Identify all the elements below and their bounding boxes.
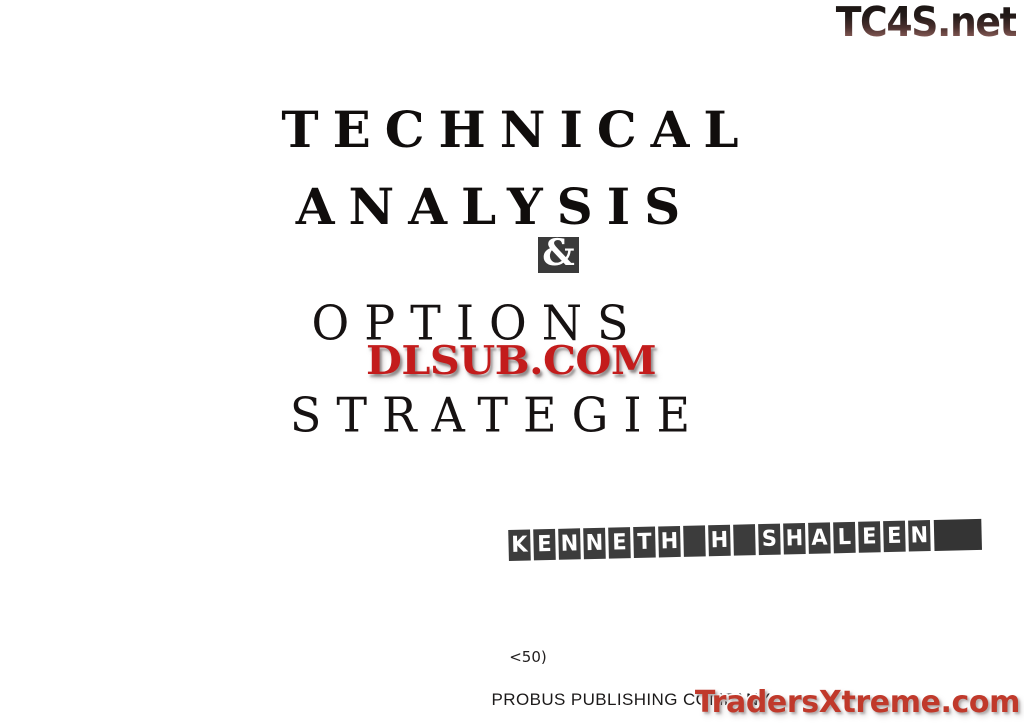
- author-tile-l: L: [833, 522, 856, 554]
- title-line-analysis: ANALYSIS: [0, 177, 1000, 236]
- author-tile-a: A: [808, 522, 831, 554]
- dlsub-watermark: DLSUB.COM: [366, 339, 656, 383]
- author-name-strip: KENNETHHSHALEEN: [508, 519, 984, 561]
- author-tile-e: E: [608, 527, 631, 559]
- author-tile-h: H: [708, 525, 731, 557]
- cover-title-block: TECHNICAL ANALYSIS & OPTIONS STRATEGIE: [0, 0, 1024, 470]
- author-tile-h: H: [783, 523, 806, 555]
- author-tile-blank: [934, 519, 982, 551]
- author-tile-n: N: [908, 520, 931, 552]
- author-tile-e: E: [533, 529, 556, 561]
- author-tile-e: E: [883, 521, 906, 553]
- ampersand-plate: &: [538, 237, 579, 273]
- author-tile-n: N: [558, 528, 581, 560]
- author-tile-space: [733, 524, 756, 556]
- title-line-technical: TECHNICAL: [0, 100, 1022, 159]
- author-tile-t: T: [633, 527, 656, 559]
- subtitle-line-strategie: STRATEGIE: [0, 387, 1002, 443]
- book-cover-scan: TC4S.net TECHNICAL ANALYSIS & OPTIONS ST…: [0, 0, 1024, 724]
- author-tile-e: E: [858, 521, 881, 553]
- author-tile-k: K: [508, 529, 531, 561]
- author-tile-space: [683, 525, 706, 557]
- author-tile-h: H: [658, 526, 681, 558]
- tradersxtreme-watermark: TradersXtreme.com: [695, 686, 1020, 720]
- author-tile-n: N: [583, 528, 606, 560]
- author-tile-s: S: [758, 524, 781, 556]
- price-mark: <50): [16, 648, 1024, 666]
